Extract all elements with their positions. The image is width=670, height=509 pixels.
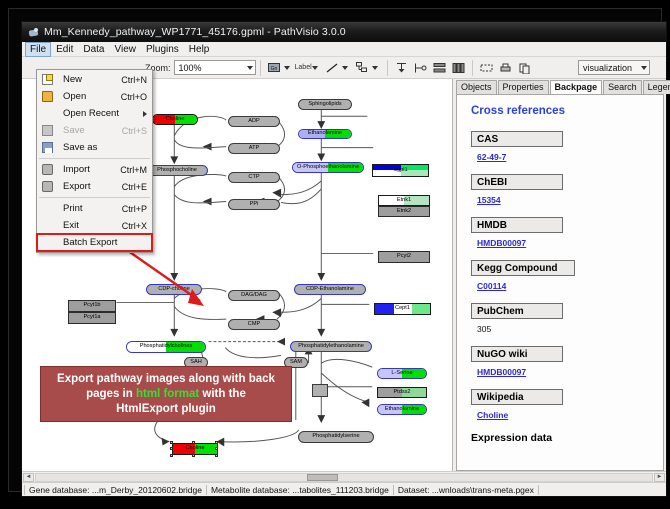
node-label: Sgpl1 — [373, 168, 428, 174]
scroll-left-icon[interactable]: ◄ — [23, 473, 34, 482]
handle-n[interactable] — [192, 441, 195, 444]
menu-item-label: Print — [63, 203, 83, 214]
menu-item-shortcut: Ctrl+E — [122, 182, 147, 192]
xref-pubchem: PubChem 305 — [471, 303, 663, 337]
node-ctp[interactable]: CTP — [228, 172, 280, 183]
xref-chebi: ChEBI 15354 — [471, 174, 663, 208]
menu-help[interactable]: Help — [184, 42, 215, 57]
zoom-combobox[interactable]: 100% — [174, 60, 256, 75]
align-left-tool-icon[interactable] — [412, 59, 429, 76]
stack-tool-icon[interactable] — [431, 59, 448, 76]
handle-nw[interactable] — [170, 441, 173, 444]
menu-item-shortcut: Ctrl+S — [122, 126, 147, 136]
xref-value-hmdb[interactable]: HMDB00097 — [477, 238, 526, 248]
cross-references-title: Cross references — [471, 105, 663, 117]
callout-line1: Export pathway images along with back — [57, 373, 275, 385]
datanode-dropdown-icon[interactable] — [284, 66, 290, 70]
xref-head-kegg: Kegg Compound — [471, 260, 575, 276]
xref-value-nugo[interactable]: HMDB00097 — [477, 367, 526, 377]
pathvisio-icon — [28, 27, 39, 38]
label-dropdown-icon[interactable] — [312, 66, 318, 70]
datanode-tool-icon[interactable]: Gn — [266, 59, 283, 76]
menu-item-exit[interactable]: Exit Ctrl+X — [37, 217, 152, 234]
anchor-box — [312, 384, 328, 397]
import-icon — [42, 164, 53, 175]
save-icon — [42, 125, 53, 136]
zoom-value: 100% — [179, 63, 202, 73]
file-menu-dropdown[interactable]: New Ctrl+N Open Ctrl+O Open Recent Save … — [36, 69, 153, 253]
node-label: Phosphatidylcholines — [127, 344, 205, 350]
callout-line2c: with the — [199, 388, 246, 400]
menu-item-label: Import — [63, 164, 90, 175]
node-label: PPi — [250, 202, 259, 208]
menu-item-label: Export — [63, 181, 90, 192]
expression-data-title: Expression data — [471, 432, 663, 444]
node-label: Cept1 — [375, 306, 430, 312]
status-gene-database: Gene database: ...m_Derby_20120602.bridg… — [24, 485, 207, 495]
node-pcyt1a[interactable]: Pcyt1a — [68, 312, 116, 324]
xref-value-chebi[interactable]: 15354 — [477, 195, 501, 205]
node-adp[interactable]: ADP — [228, 116, 280, 127]
menu-item-import[interactable]: Import Ctrl+M — [37, 161, 152, 178]
node-etnk1[interactable]: Etnk1 — [378, 195, 430, 206]
visualization-value: visualization — [583, 63, 632, 73]
node-ptdss2[interactable]: Ptdss2 — [377, 387, 427, 398]
xref-head-chebi: ChEBI — [471, 174, 563, 190]
node-label: Ptdss2 — [378, 390, 426, 396]
menu-item-label: Open Recent — [63, 108, 119, 119]
xref-nugo: NuGO wiki HMDB00097 — [471, 346, 663, 380]
menu-view[interactable]: View — [109, 42, 141, 57]
line-tool-icon[interactable] — [324, 59, 341, 76]
interaction-dropdown-icon[interactable] — [372, 66, 378, 70]
visualization-combobox[interactable]: visualization — [578, 60, 650, 75]
menu-item-open[interactable]: Open Ctrl+O — [37, 88, 152, 105]
export-icon — [42, 181, 53, 192]
node-sgpl1[interactable]: Sgpl1 — [372, 164, 429, 177]
pathvisio-window: Mm_Kennedy_pathway_WP1771_45176.gpml - P… — [21, 21, 667, 497]
node-label: Pcyt1b — [83, 303, 100, 309]
tab-legend[interactable]: Legend — [643, 80, 670, 94]
node-label: Pcyt1a — [83, 315, 100, 321]
node-label: Choline — [153, 117, 197, 123]
scroll-thumb[interactable] — [307, 474, 338, 481]
node-dag[interactable]: DAG/DAG — [228, 290, 280, 301]
node-pcyt2[interactable]: Pcyt2 — [378, 251, 430, 263]
tab-search[interactable]: Search — [603, 80, 642, 94]
menu-item-batch-export[interactable]: Batch Export — [37, 234, 152, 251]
xref-kegg: Kegg Compound C00114 — [471, 260, 663, 294]
node-label: Pcyt2 — [397, 254, 411, 260]
node-l-serine[interactable]: L-Serine — [377, 368, 427, 379]
handle-se[interactable] — [215, 454, 218, 457]
node-etnk2[interactable]: Etnk2 — [378, 206, 430, 217]
submenu-arrow-icon — [143, 111, 147, 117]
node-cmp[interactable]: CMP — [228, 319, 280, 330]
menu-item-label: New — [63, 74, 82, 85]
node-label: Ethanolamine — [299, 131, 351, 137]
node-label: ATP — [249, 146, 259, 152]
open-folder-icon — [42, 91, 53, 102]
menu-item-label: Save — [63, 125, 85, 136]
node-o-phosphoethanolamine[interactable]: O-Phosphoethanolamine — [292, 162, 364, 173]
tab-objects[interactable]: Objects — [456, 80, 497, 94]
annotation-callout: Export pathway images along with back pa… — [40, 366, 292, 422]
xref-value-kegg[interactable]: C00114 — [477, 281, 506, 291]
distribute-tool-icon[interactable] — [450, 59, 467, 76]
node-label: Choline — [173, 446, 217, 452]
node-label: Phosphatidylserine — [312, 434, 359, 440]
chevron-down-icon — [247, 66, 253, 70]
menu-item-new[interactable]: New Ctrl+N — [37, 71, 152, 88]
handle-s[interactable] — [192, 454, 195, 457]
tab-properties[interactable]: Properties — [498, 80, 549, 94]
node-label: Etnk1 — [379, 198, 429, 204]
node-phosphatidylethanolamine[interactable]: Phosphatidylethanolamine — [290, 341, 372, 352]
window-titlebar: Mm_Kennedy_pathway_WP1771_45176.gpml - P… — [22, 22, 666, 42]
statusbar: Gene database: ...m_Derby_20120602.bridg… — [22, 482, 666, 496]
side-panel-tabs: Objects Properties Backpage Search Legen… — [453, 79, 666, 94]
scroll-track[interactable] — [35, 473, 653, 482]
node-cdp-ethanolamine[interactable]: CDP-Ethanolamine — [294, 284, 366, 295]
node-label: Sphingolipids — [308, 102, 341, 108]
side-panel: Objects Properties Backpage Search Legen… — [453, 79, 666, 471]
menu-item-shortcut: Ctrl+M — [120, 165, 147, 175]
node-cept1[interactable]: Cept1 — [374, 303, 431, 315]
menu-item-shortcut: Ctrl+X — [122, 221, 147, 231]
xref-cas: CAS 62-49-7 — [471, 131, 663, 165]
node-phosphatidylserine[interactable]: Phosphatidylserine — [298, 431, 374, 443]
xref-head-wikipedia: Wikipedia — [471, 389, 563, 405]
xref-value-pubchem: 305 — [477, 324, 491, 334]
xref-value-cas[interactable]: 62-49-7 — [477, 152, 506, 162]
horizontal-scrollbar[interactable]: ◄ ► — [22, 471, 666, 482]
node-label: Etnk2 — [397, 209, 411, 215]
xref-head-hmdb: HMDB — [471, 217, 563, 233]
backpage-content: Cross references CAS 62-49-7 ChEBI 15354… — [456, 94, 664, 471]
node-label: O-Phosphoethanolamine — [293, 165, 363, 171]
node-atp[interactable]: ATP — [228, 143, 280, 154]
node-sphingolipids[interactable]: Sphingolipids — [298, 99, 352, 110]
menu-item-shortcut: Ctrl+N — [121, 75, 147, 85]
tab-backpage[interactable]: Backpage — [550, 80, 603, 95]
xref-head-nugo: NuGO wiki — [471, 346, 563, 362]
node-label: CDP-Ethanolamine — [306, 287, 354, 293]
menu-edit[interactable]: Edit — [51, 42, 78, 57]
menu-item-label: Open — [63, 91, 86, 102]
menu-item-save-as[interactable]: Save as — [37, 139, 152, 156]
menu-item-shortcut: Ctrl+P — [122, 204, 147, 214]
node-label: Ethanolamine — [378, 407, 426, 413]
xref-value-wikipedia[interactable]: Choline — [477, 410, 508, 420]
toolbar-divider-2 — [387, 60, 388, 76]
xref-head-pubchem: PubChem — [471, 303, 563, 319]
menu-item-print[interactable]: Print Ctrl+P — [37, 200, 152, 217]
node-label: SAH — [190, 360, 202, 366]
menu-divider-2 — [39, 197, 150, 198]
node-label: ADP — [248, 119, 260, 125]
node-phosphocholine[interactable]: Phosphocholine — [146, 165, 208, 176]
node-ethanolamine-2[interactable]: Ethanolamine — [377, 404, 427, 415]
label-tool-icon[interactable]: Label — [295, 64, 312, 71]
print-tool-icon[interactable] — [497, 59, 514, 76]
menu-divider-1 — [39, 158, 150, 159]
xref-head-cas: CAS — [471, 131, 563, 147]
node-label: DAG/DAG — [241, 293, 267, 299]
align-top-tool-icon[interactable] — [393, 59, 410, 76]
node-cdp-choline[interactable]: CDP-choline — [146, 284, 202, 295]
node-phosphatidylcholines[interactable]: Phosphatidylcholines — [126, 341, 206, 353]
menu-item-save: Save Ctrl+S — [37, 122, 152, 139]
menu-item-export[interactable]: Export Ctrl+E — [37, 178, 152, 195]
menu-item-label: Batch Export — [63, 237, 117, 248]
save-as-icon — [42, 142, 53, 153]
menu-item-shortcut: Ctrl+O — [121, 92, 147, 102]
callout-highlight: html format — [136, 388, 199, 400]
toolbar-divider — [260, 60, 261, 76]
new-document-icon — [42, 74, 53, 85]
menu-item-open-recent[interactable]: Open Recent — [37, 105, 152, 122]
menu-plugins[interactable]: Plugins — [141, 42, 184, 57]
chevron-down-icon-2 — [641, 66, 647, 70]
status-metabolite-database: Metabolite database: ...tabolites_111203… — [207, 485, 394, 495]
handle-ne[interactable] — [215, 441, 218, 444]
node-label: CTP — [248, 175, 259, 181]
toolbar-divider-3 — [472, 60, 473, 76]
node-ethanolamine-1[interactable]: Ethanolamine — [298, 129, 352, 139]
window-outer-frame: Mm_Kennedy_pathway_WP1771_45176.gpml - P… — [8, 8, 662, 492]
handle-sw[interactable] — [170, 454, 173, 457]
line-dropdown-icon[interactable] — [342, 66, 348, 70]
node-label: Phosphatidylethanolamine — [298, 344, 364, 350]
menu-item-label: Exit — [63, 220, 79, 231]
node-label: CMP — [248, 322, 260, 328]
menu-file[interactable]: File — [25, 42, 51, 57]
node-label: Phosphocholine — [157, 168, 197, 174]
node-choline-top[interactable]: Choline — [152, 114, 198, 125]
node-pcyt1b[interactable]: Pcyt1b — [68, 300, 116, 312]
copy-tool-icon[interactable] — [516, 59, 533, 76]
node-label: SAM — [290, 360, 302, 366]
xref-wikipedia: Wikipedia Choline — [471, 389, 663, 423]
status-dataset: Dataset: ...wnloads\trans-meta.pgex — [394, 485, 539, 495]
menu-item-label: Save as — [63, 142, 97, 153]
window-title: Mm_Kennedy_pathway_WP1771_45176.gpml - P… — [44, 26, 346, 38]
node-ppi[interactable]: PPi — [228, 199, 280, 210]
screenshot-root: Mm_Kennedy_pathway_WP1771_45176.gpml - P… — [0, 0, 670, 509]
interaction-tool-icon[interactable] — [354, 59, 371, 76]
callout-line3: HtmlExport plugin — [116, 403, 216, 415]
menu-data[interactable]: Data — [78, 42, 109, 57]
xref-hmdb: HMDB HMDB00097 — [471, 217, 663, 251]
group-tool-icon[interactable] — [478, 59, 495, 76]
menubar: File Edit Data View Plugins Help — [22, 42, 666, 57]
scroll-right-icon[interactable]: ► — [654, 473, 665, 482]
callout-line2a: pages in — [86, 388, 136, 400]
node-label: L-Serine — [378, 371, 426, 377]
node-label: CDP-choline — [158, 287, 189, 293]
svg-text:Gn: Gn — [271, 66, 278, 72]
